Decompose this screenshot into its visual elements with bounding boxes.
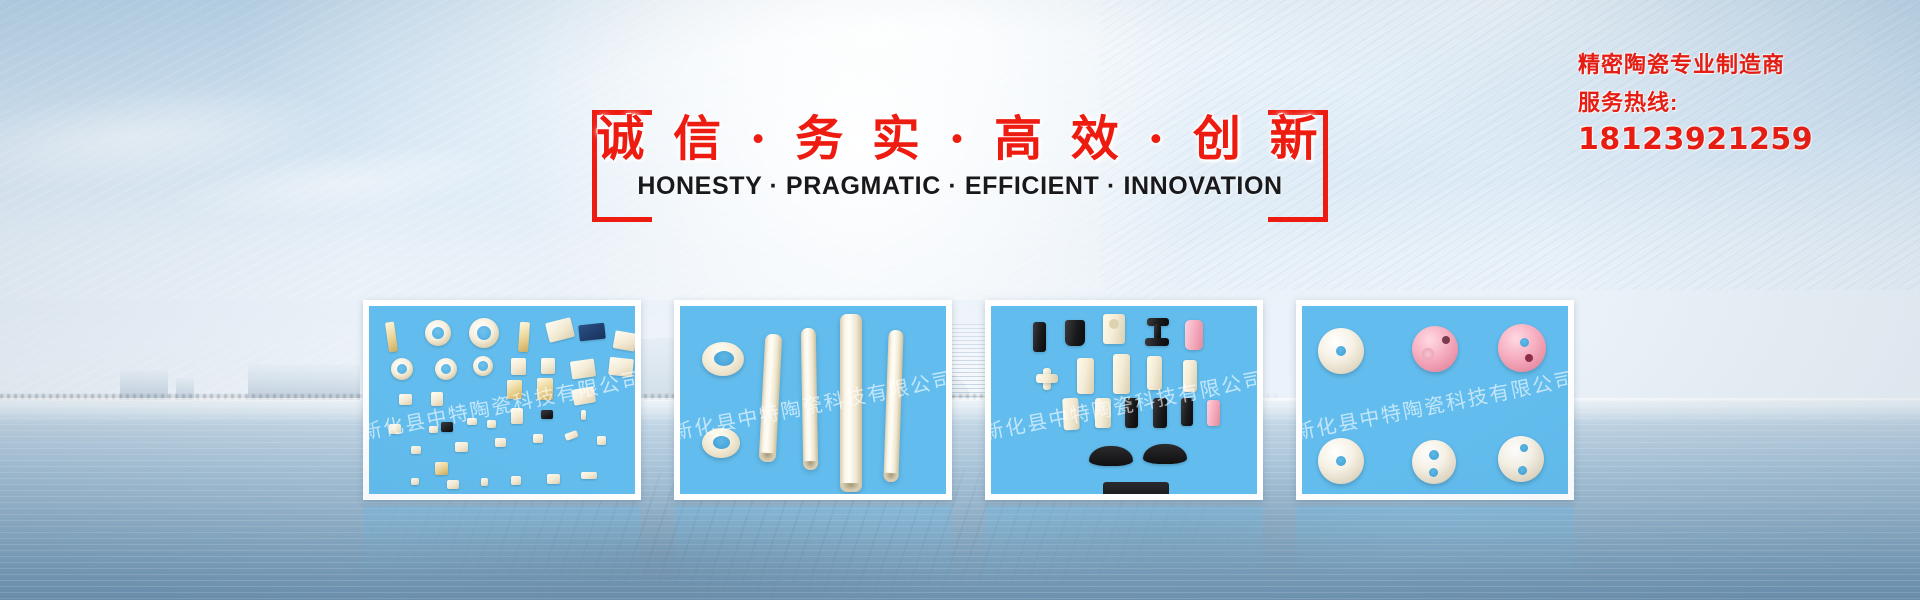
- product-photo-4: 新化县中特陶瓷科技有限公司: [1302, 306, 1568, 494]
- product-panel-1[interactable]: 新化县中特陶瓷科技有限公司: [363, 300, 641, 500]
- product-photo-1: 新化县中特陶瓷科技有限公司: [369, 306, 635, 494]
- product-panel-2[interactable]: 新化县中特陶瓷科技有限公司: [674, 300, 952, 500]
- product-photo-3: 新化县中特陶瓷科技有限公司: [991, 306, 1257, 494]
- watermark-4: 新化县中特陶瓷科技有限公司: [1302, 362, 1568, 445]
- hero-banner: 诚 信 · 务 实 · 高 效 · 创 新 HONESTY · PRAGMATI…: [0, 0, 1920, 600]
- product-panels: 新化县中特陶瓷科技有限公司 新化县中特陶瓷科技有限公司: [0, 0, 1920, 600]
- product-photo-2: 新化县中特陶瓷科技有限公司: [680, 306, 946, 494]
- product-panel-4[interactable]: 新化县中特陶瓷科技有限公司: [1296, 300, 1574, 500]
- product-panel-3[interactable]: 新化县中特陶瓷科技有限公司: [985, 300, 1263, 500]
